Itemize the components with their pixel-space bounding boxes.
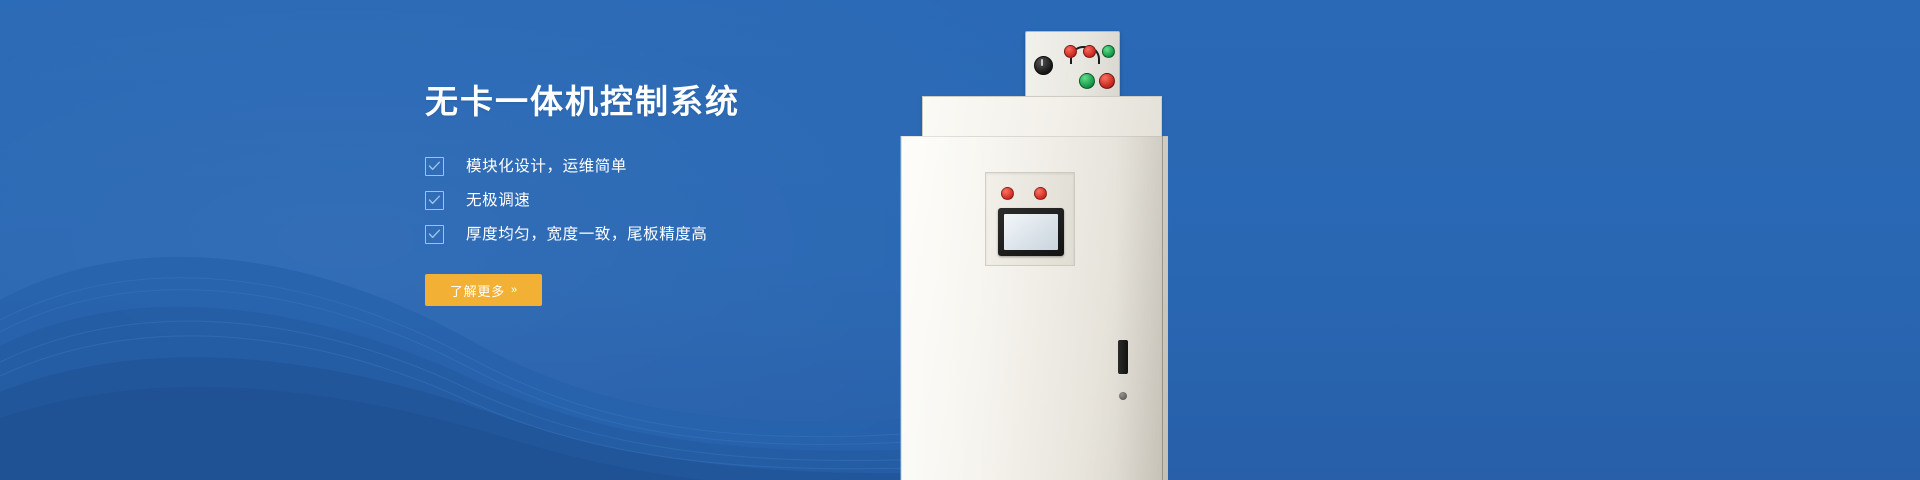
chevron-double-right-icon: » <box>511 284 517 296</box>
selector-knob-icon <box>1034 56 1053 75</box>
operator-panel <box>1025 31 1120 101</box>
feature-list: 模块化设计，运维简单 无极调速 厚度均匀，宽度一致，尾板精度高 <box>425 150 895 251</box>
check-square-icon <box>425 157 444 176</box>
banner-headline: 无卡一体机控制系统 <box>425 84 895 120</box>
cabinet-door-seam <box>1162 136 1163 480</box>
door-handle-icon <box>1118 340 1128 374</box>
feature-item: 无极调速 <box>425 184 895 217</box>
feature-label: 模块化设计，运维简单 <box>466 159 627 175</box>
push-button-icon <box>1102 45 1115 58</box>
control-cabinet-image <box>900 0 1200 480</box>
indicator-lamp-icon <box>1034 187 1047 200</box>
push-button-icon <box>1064 45 1077 58</box>
feature-label: 无极调速 <box>466 193 530 209</box>
check-mark-icon <box>428 160 441 173</box>
cta-container: 了解更多 » <box>425 274 895 306</box>
indicator-lamp-icon <box>1001 187 1014 200</box>
feature-item: 厚度均匀，宽度一致，尾板精度高 <box>425 218 895 251</box>
check-mark-icon <box>428 228 441 241</box>
feature-label: 厚度均匀，宽度一致，尾板精度高 <box>466 227 708 243</box>
banner-content: 无卡一体机控制系统 模块化设计，运维简单 无极调速 <box>425 84 895 306</box>
learn-more-label: 了解更多 <box>450 281 505 300</box>
door-lock-icon <box>1119 392 1127 400</box>
hmi-screen-surface <box>1004 214 1058 250</box>
push-button-icon <box>1079 73 1095 89</box>
check-square-icon <box>425 191 444 210</box>
feature-item: 模块化设计，运维简单 <box>425 150 895 183</box>
push-button-icon <box>1099 73 1115 89</box>
hero-banner: 无卡一体机控制系统 模块化设计，运维简单 无极调速 <box>0 0 1920 480</box>
check-mark-icon <box>428 194 441 207</box>
learn-more-button[interactable]: 了解更多 » <box>425 274 542 306</box>
check-square-icon <box>425 225 444 244</box>
push-button-icon <box>1083 45 1096 58</box>
hmi-touchscreen <box>998 208 1064 256</box>
cabinet-top-cap <box>922 96 1162 140</box>
